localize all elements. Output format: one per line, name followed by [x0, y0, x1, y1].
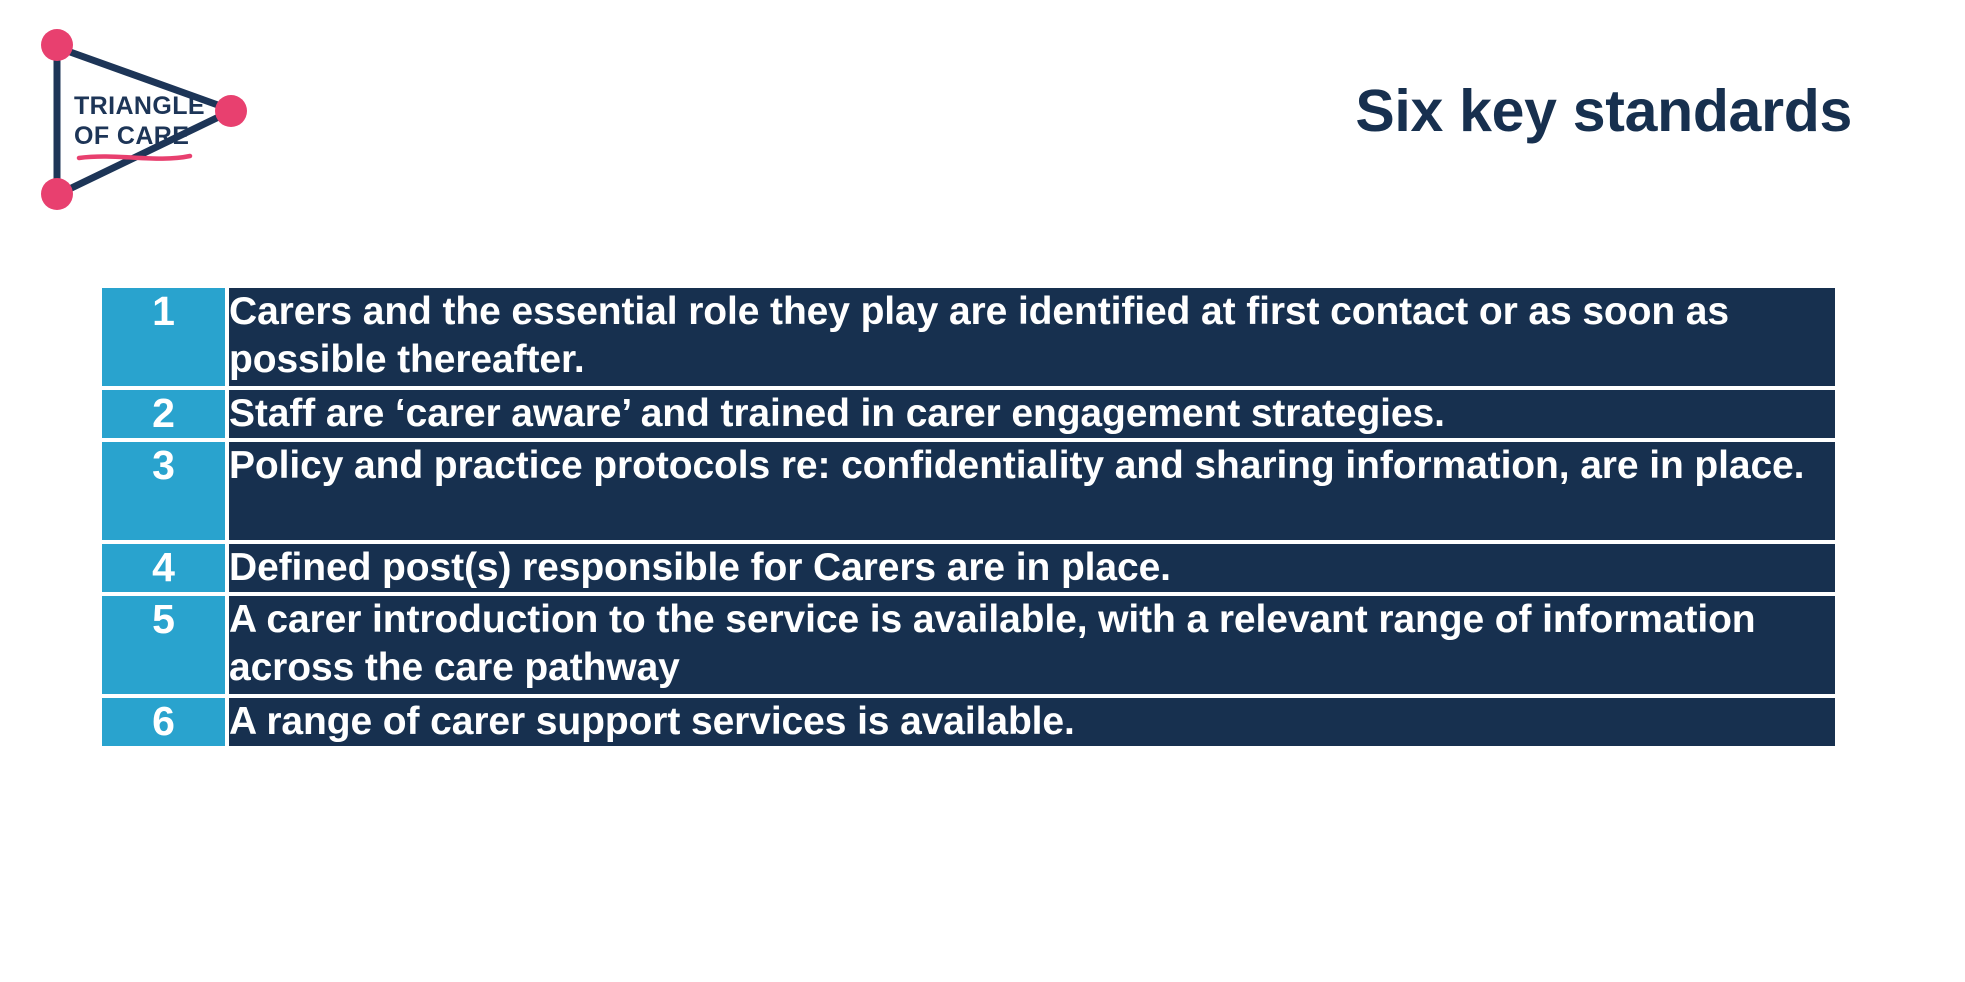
six-key-standards-table: 1 Carers and the essential role they pla… [102, 288, 1835, 746]
standard-number-cell: 4 [102, 544, 229, 596]
table-row: 2 Staff are ‘carer aware’ and trained in… [102, 390, 1835, 442]
standard-text: Policy and practice protocols re: confid… [229, 444, 1804, 487]
standard-number: 1 [152, 288, 175, 334]
standard-text: Defined post(s) responsible for Carers a… [229, 546, 1171, 589]
slide-canvas: TRIANGLE OF CARE Six key standards 1 Car… [0, 0, 1965, 982]
table-row: 6 A range of carer support services is a… [102, 698, 1835, 746]
standard-number-cell: 2 [102, 390, 229, 442]
logo-dot-bottom-icon [41, 178, 73, 210]
logo-dot-right-icon [215, 95, 247, 127]
standard-text-cell: A carer introduction to the service is a… [229, 596, 1835, 698]
standard-text: A range of carer support services is ava… [229, 700, 1075, 743]
standard-text: Carers and the essential role they play … [229, 290, 1729, 381]
logo-graphic: TRIANGLE OF CARE [22, 22, 282, 217]
standards-table-body: 1 Carers and the essential role they pla… [102, 288, 1835, 746]
table-row: 4 Defined post(s) responsible for Carers… [102, 544, 1835, 596]
standard-text-cell: Carers and the essential role they play … [229, 288, 1835, 390]
standard-number-cell: 5 [102, 596, 229, 698]
triangle-of-care-logo: TRIANGLE OF CARE [22, 22, 282, 217]
table-row: 5 A carer introduction to the service is… [102, 596, 1835, 698]
logo-dot-top-icon [41, 29, 73, 61]
standard-number-cell: 3 [102, 442, 229, 544]
standard-text-cell: A range of carer support services is ava… [229, 698, 1835, 746]
standard-text-cell: Defined post(s) responsible for Carers a… [229, 544, 1835, 596]
standard-text-cell: Policy and practice protocols re: confid… [229, 442, 1835, 544]
table-row: 1 Carers and the essential role they pla… [102, 288, 1835, 390]
standard-text-cell: Staff are ‘carer aware’ and trained in c… [229, 390, 1835, 442]
logo-wordmark-line1: TRIANGLE [74, 92, 205, 120]
standard-number-cell: 6 [102, 698, 229, 746]
standard-number: 3 [152, 442, 175, 488]
standard-text: A carer introduction to the service is a… [229, 598, 1756, 689]
logo-underline-swoosh [79, 156, 190, 159]
logo-wordmark-line2: OF CARE [74, 122, 189, 150]
standard-number: 6 [152, 698, 175, 744]
standard-number-cell: 1 [102, 288, 229, 390]
standard-number: 2 [152, 390, 175, 436]
standard-text: Staff are ‘carer aware’ and trained in c… [229, 392, 1445, 435]
standard-number: 4 [152, 544, 175, 590]
standard-number: 5 [152, 596, 175, 642]
page-title: Six key standards [600, 80, 1852, 144]
table-row: 3 Policy and practice protocols re: conf… [102, 442, 1835, 544]
